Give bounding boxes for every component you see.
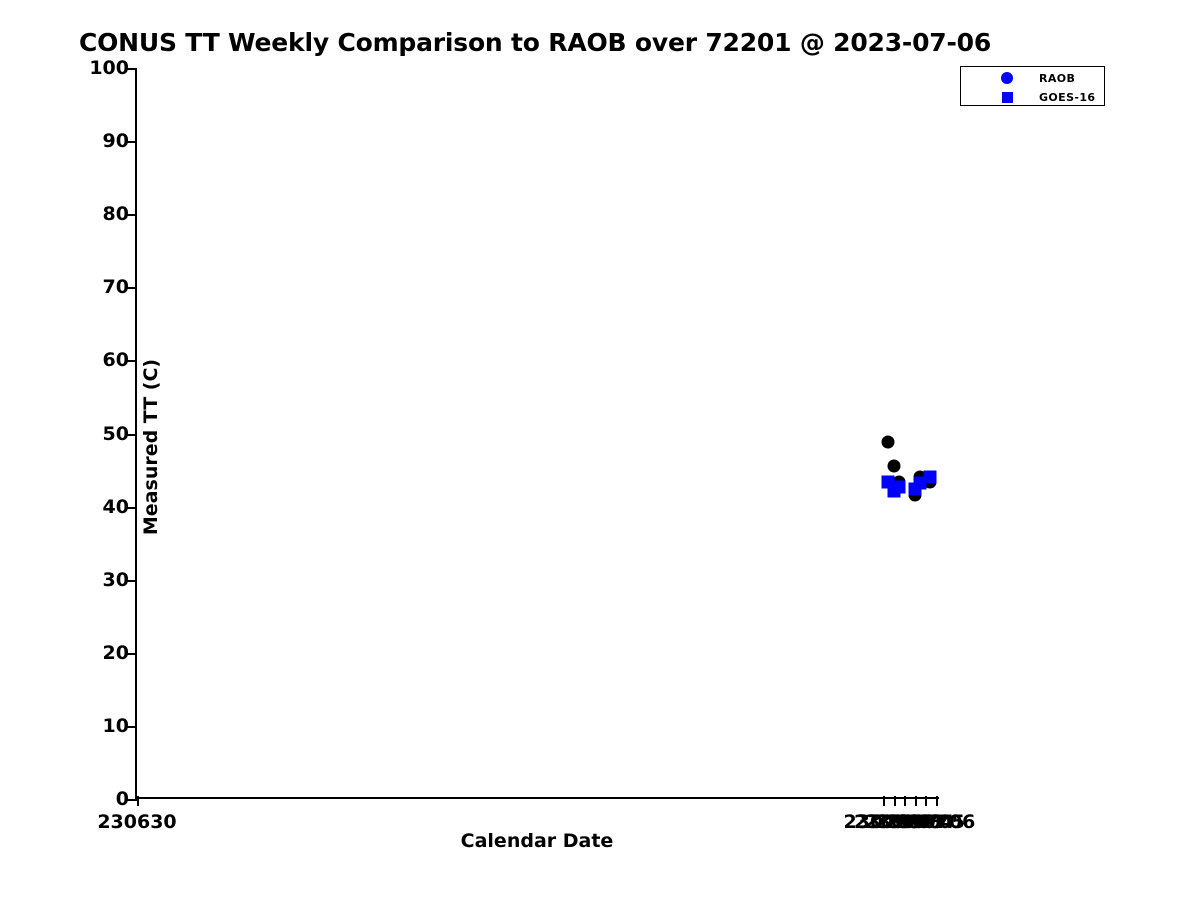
x-tick-mark xyxy=(925,796,927,806)
x-axis-label: Calendar Date xyxy=(135,830,939,852)
legend-label: RAOB xyxy=(1039,72,1075,85)
x-tick-mark xyxy=(894,796,896,806)
y-tick-label: 50 xyxy=(103,423,129,445)
chart-legend: RAOBGOES-16 xyxy=(960,66,1105,106)
y-tick-label: 60 xyxy=(103,349,129,371)
legend-marker-circle-icon xyxy=(999,70,1015,86)
y-axis-label: Measured TT (C) xyxy=(140,197,162,697)
legend-marker-square-icon xyxy=(999,89,1015,105)
data-point-raob xyxy=(887,460,900,473)
y-tick-label: 100 xyxy=(89,57,129,79)
y-tick-label: 70 xyxy=(103,276,129,298)
plot-area: 0102030405060708090100 23063023070123070… xyxy=(135,68,939,799)
y-tick-label: 0 xyxy=(116,788,129,810)
x-tick-mark xyxy=(915,796,917,806)
chart-figure: CONUS TT Weekly Comparison to RAOB over … xyxy=(0,0,1200,900)
chart-title: CONUS TT Weekly Comparison to RAOB over … xyxy=(0,28,1070,57)
legend-item-goes-16[interactable]: GOES-16 xyxy=(961,87,1104,107)
x-tick-mark xyxy=(904,796,906,806)
y-tick-label: 90 xyxy=(103,130,129,152)
y-tick-label: 20 xyxy=(103,642,129,664)
data-point-raob xyxy=(882,435,895,448)
x-tick-mark xyxy=(883,796,885,806)
x-tick-mark xyxy=(936,796,938,806)
y-tick-label: 10 xyxy=(103,715,129,737)
y-tick-label: 40 xyxy=(103,496,129,518)
data-point-goes-16 xyxy=(924,470,937,483)
y-tick-label: 80 xyxy=(103,203,129,225)
y-tick-label: 30 xyxy=(103,569,129,591)
legend-item-raob[interactable]: RAOB xyxy=(961,68,1104,88)
data-point-goes-16 xyxy=(892,480,905,493)
legend-label: GOES-16 xyxy=(1039,91,1096,104)
x-tick-mark xyxy=(137,796,139,806)
